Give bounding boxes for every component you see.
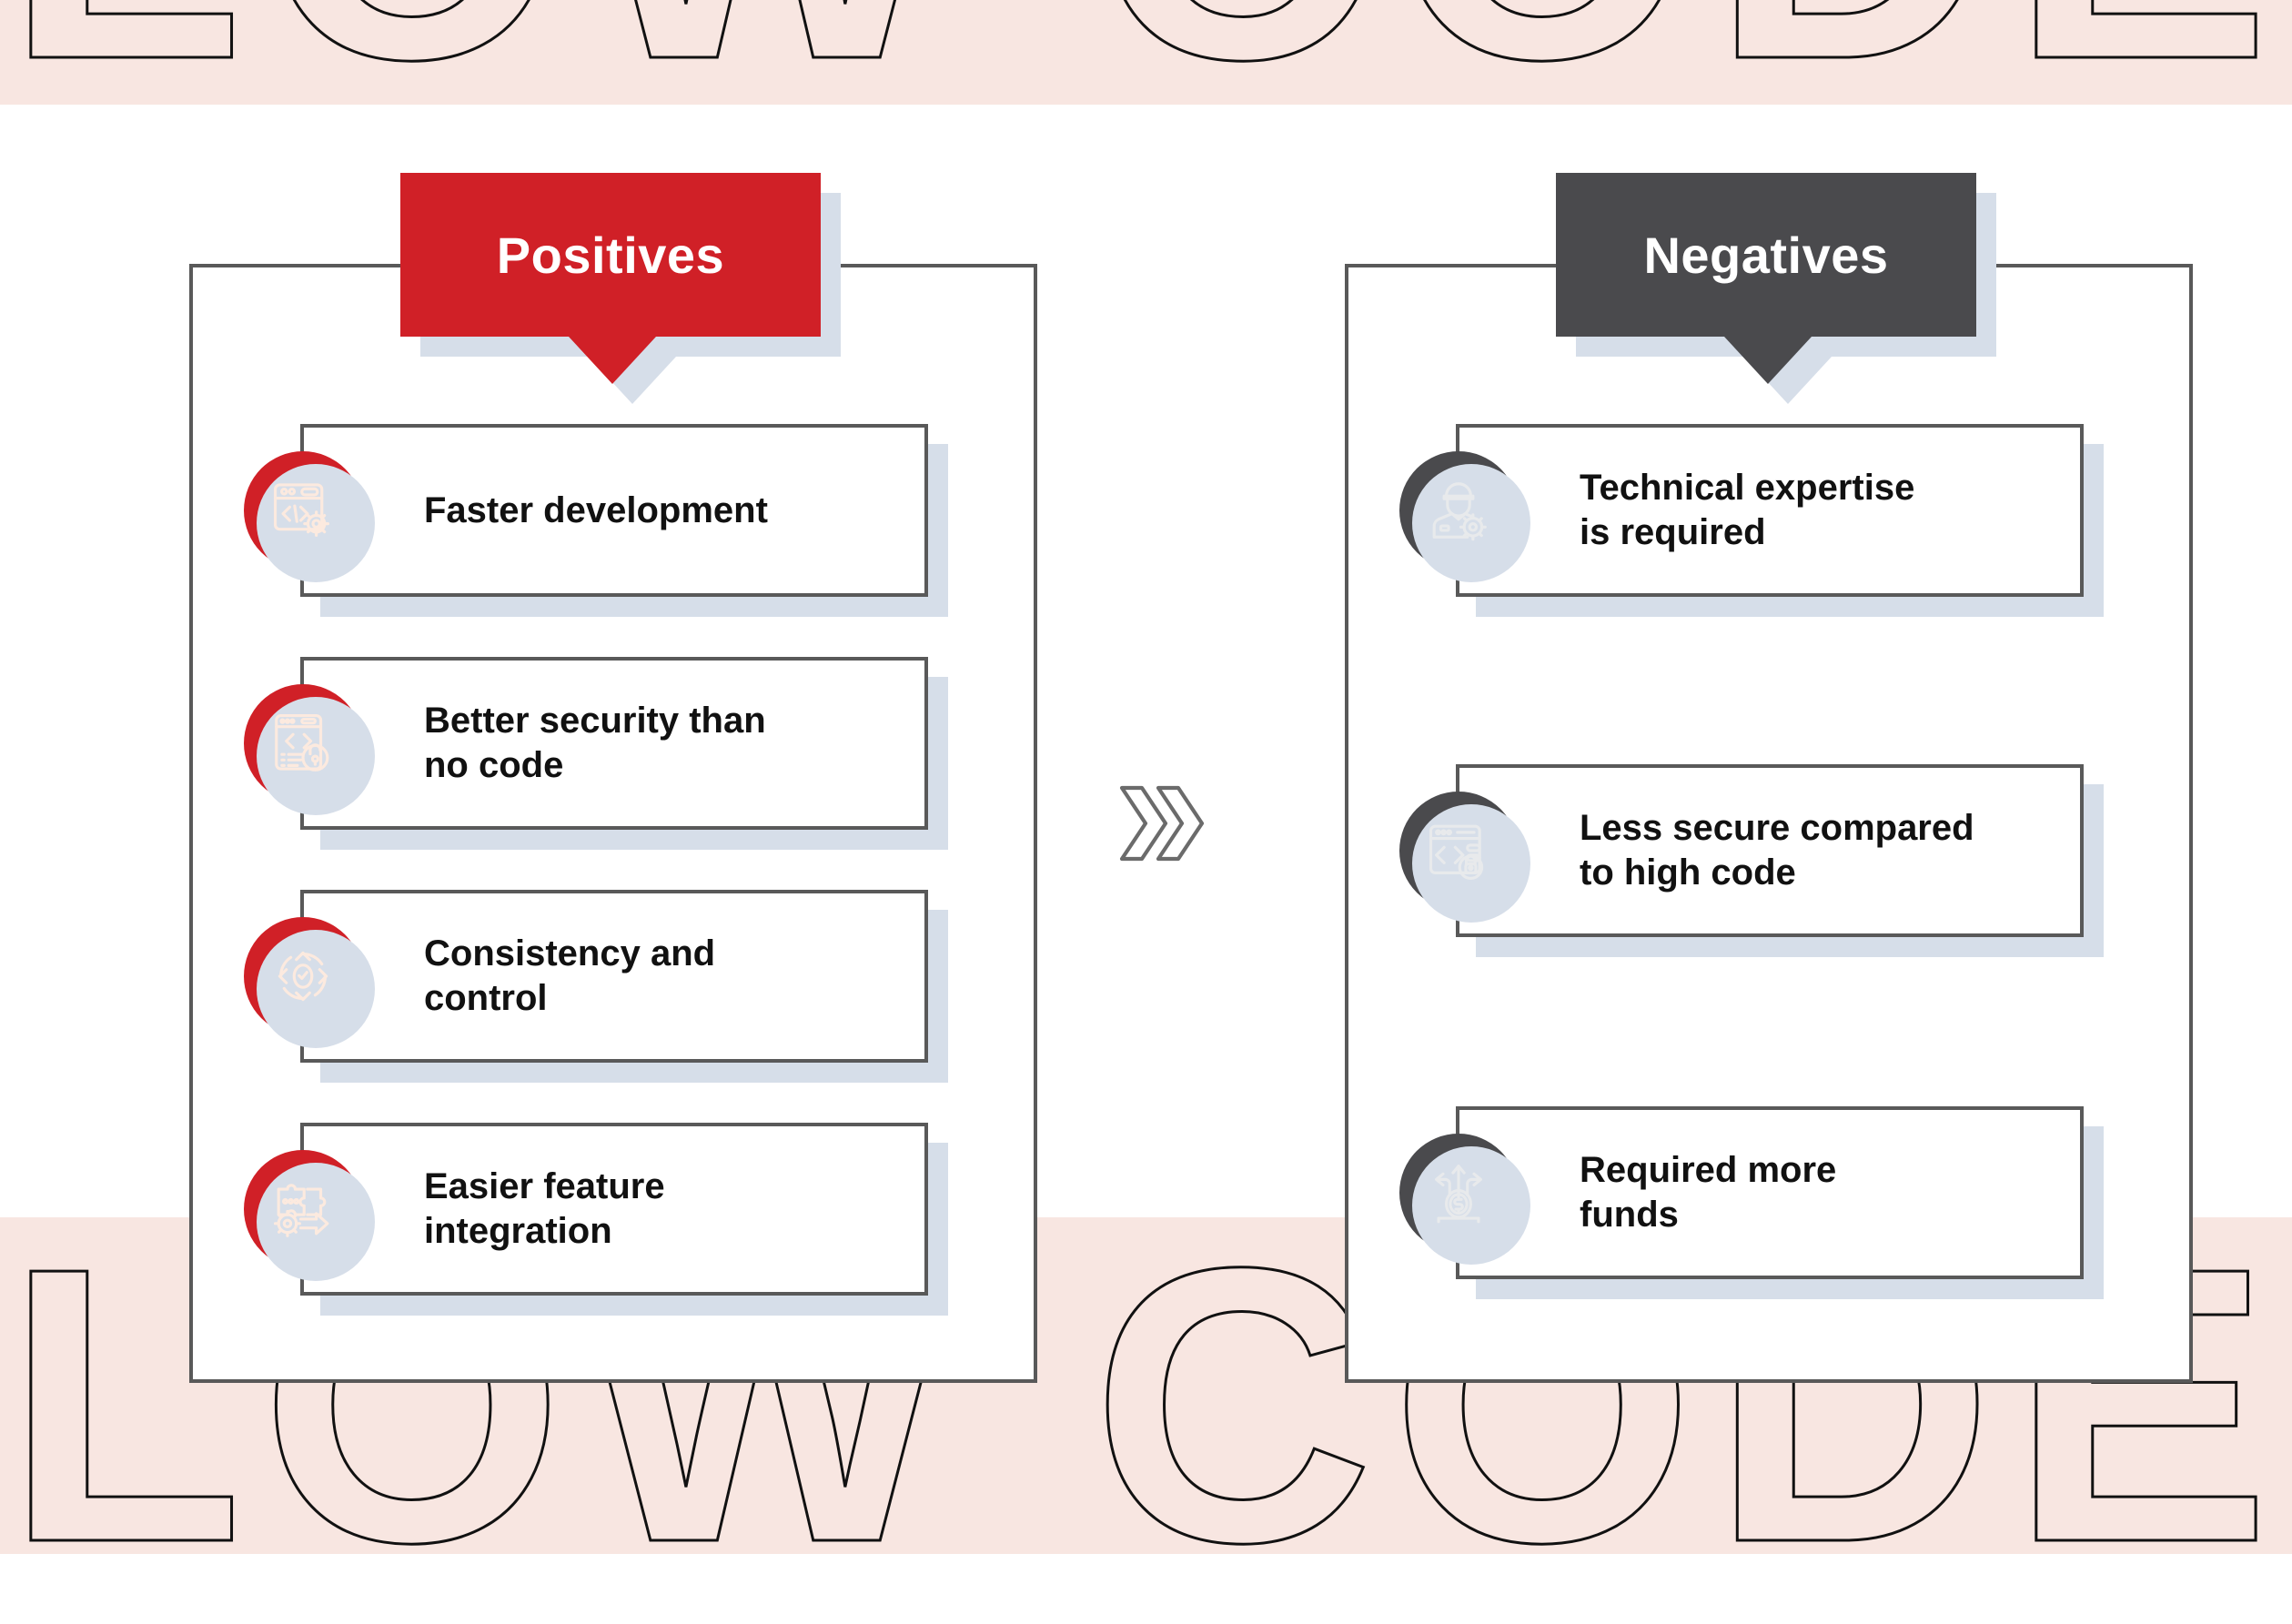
positive-card-label: Faster development (424, 489, 786, 533)
negative-card-label: Technical expertise is required (1580, 466, 1933, 555)
negatives-banner-box: Negatives (1556, 173, 1976, 337)
positive-card-label: Better security than no code (424, 699, 784, 788)
card-box: Easier feature integration (300, 1123, 928, 1296)
positive-card-label: Consistency and control (424, 932, 733, 1021)
card-box: Required more funds (1456, 1106, 2084, 1279)
positive-card-3[interactable]: Consistency and control (300, 890, 928, 1063)
positive-card-4[interactable]: Easier feature integration (300, 1123, 928, 1296)
cycle-arrows-check-icon (244, 917, 362, 1035)
positives-banner-label: Positives (497, 226, 724, 285)
technician-gear-icon (1399, 451, 1518, 570)
code-window-gear-icon (244, 451, 362, 570)
browser-code-lock-icon (1399, 792, 1518, 910)
negative-card-label: Less secure compared to high code (1580, 806, 1993, 895)
card-box: Consistency and control (300, 890, 928, 1063)
card-box: Less secure compared to high code (1456, 764, 2084, 937)
positive-card-1[interactable]: Faster development (300, 424, 928, 597)
double-chevron-right-icon (1117, 784, 1205, 862)
positive-card-2[interactable]: Better security than no code (300, 657, 928, 830)
card-box: Faster development (300, 424, 928, 597)
negative-card-2[interactable]: Less secure compared to high code (1456, 764, 2084, 937)
negative-card-1[interactable]: Technical expertise is required (1456, 424, 2084, 597)
positives-banner-box: Positives (400, 173, 821, 337)
infographic-stage: Positives Negatives (0, 0, 2292, 1554)
negatives-banner: Negatives (1556, 173, 1976, 337)
card-box: Better security than no code (300, 657, 928, 830)
positive-card-label: Easier feature integration (424, 1165, 683, 1254)
card-box: Technical expertise is required (1456, 424, 2084, 597)
puzzle-gear-arrow-icon (244, 1150, 362, 1268)
coin-branching-arrows-icon (1399, 1134, 1518, 1252)
negatives-banner-label: Negatives (1643, 226, 1888, 285)
code-window-lock-icon (244, 684, 362, 802)
positives-banner: Positives (400, 173, 821, 337)
negative-card-3[interactable]: Required more funds (1456, 1106, 2084, 1279)
negative-card-label: Required more funds (1580, 1148, 1854, 1237)
